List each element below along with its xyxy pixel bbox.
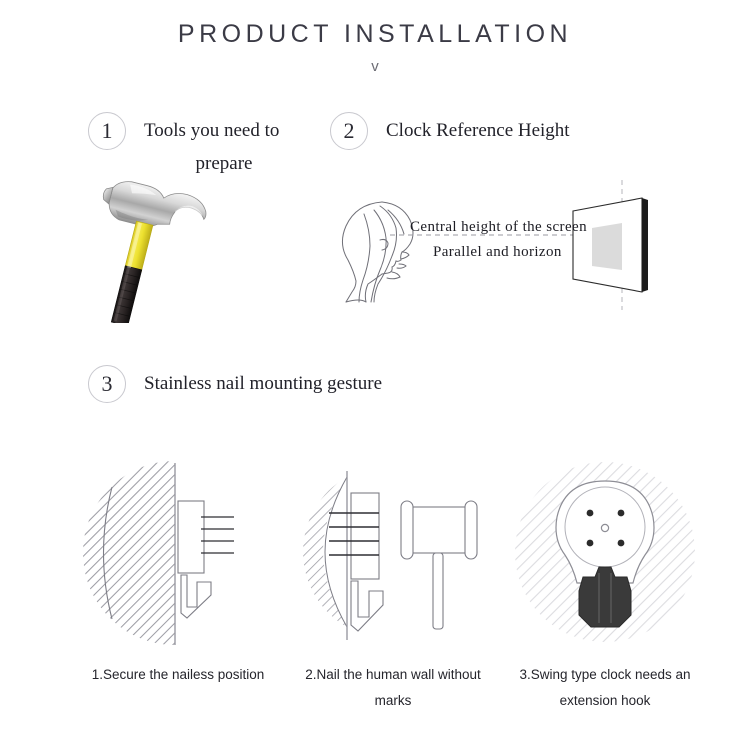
title-subtitle-mark: v (0, 58, 750, 75)
step-1-title-line2: prepare (144, 154, 314, 173)
nail-lines (201, 517, 234, 553)
step-1-badge: 1 (88, 112, 126, 150)
panel-3-caption: 3.Swing type clock needs an extension ho… (490, 662, 720, 714)
panel-1-caption: 1.Secure the nailess position (63, 662, 293, 688)
panel-1-caption-line1: 1.Secure the nailess position (92, 667, 265, 682)
screen-panel (573, 198, 648, 292)
panel-2-caption-line2: marks (278, 688, 508, 714)
panel-extension-hook (495, 455, 715, 650)
plate-inner-circle (565, 487, 645, 567)
panel-secure-position (75, 455, 295, 650)
mallet-icon (401, 501, 477, 629)
step-3-header: 3 Stainless nail mounting gesture (88, 365, 382, 403)
step-1-header: 1 Tools you need to prepare (88, 112, 314, 173)
nail-plate (178, 501, 204, 573)
panel-2-caption: 2.Nail the human wall without marks (278, 662, 508, 714)
step-2-badge: 2 (330, 112, 368, 150)
hook-shape (351, 581, 383, 631)
page-title: PRODUCT INSTALLATION (0, 20, 750, 49)
product-installation-graphic: PRODUCT INSTALLATION v 1 Tools you need … (0, 0, 750, 750)
hook-shape (181, 575, 211, 618)
claw-hammer-icon (95, 178, 245, 323)
panel-2-caption-line1: 2.Nail the human wall without (305, 667, 481, 682)
panel-3-caption-line1: 3.Swing type clock needs an (519, 667, 690, 682)
step-2-header: 2 Clock Reference Height (330, 112, 570, 150)
clock-reference-height-diagram: Central height of the screen Parallel an… (330, 180, 680, 310)
step-3-title: Stainless nail mounting gesture (144, 365, 382, 403)
sight-line-label-below: Parallel and horizon (433, 244, 562, 261)
step-3-badge: 3 (88, 365, 126, 403)
sight-line-label-above: Central height of the screen (410, 219, 587, 236)
panel-3-caption-line2: extension hook (490, 688, 720, 714)
step-1-title-line1: Tools you need to (144, 120, 279, 141)
panel-nail-wall (285, 455, 505, 650)
step-1-title: Tools you need to prepare (144, 112, 314, 173)
nail-plate (351, 493, 379, 579)
step-2-title: Clock Reference Height (386, 112, 570, 150)
